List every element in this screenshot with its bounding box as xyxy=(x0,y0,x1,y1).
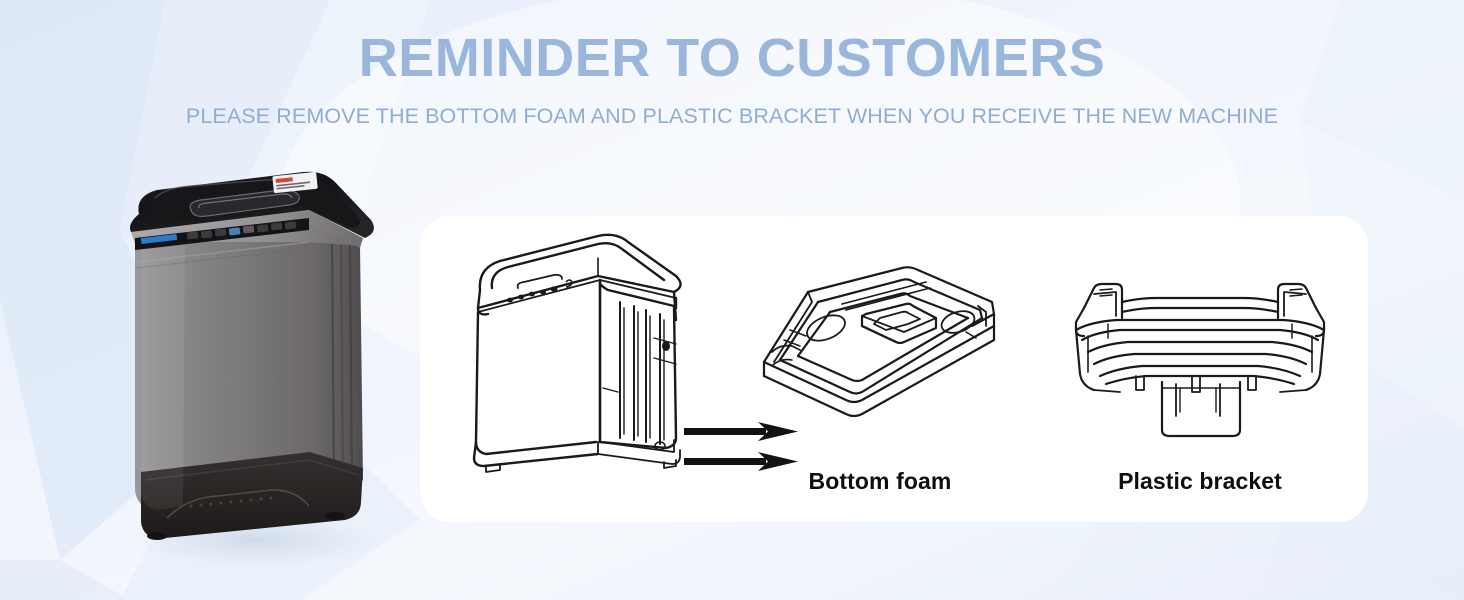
washing-machine-line-drawing xyxy=(448,228,708,478)
bottom-foam-line-drawing xyxy=(750,256,1010,456)
plastic-bracket-label: Plastic bracket xyxy=(1060,468,1340,495)
washing-machine-product-photo xyxy=(95,150,405,570)
heading-block: REMINDER TO CUSTOMERS PLEASE REMOVE THE … xyxy=(0,0,1464,129)
page-subtitle: PLEASE REMOVE THE BOTTOM FOAM AND PLASTI… xyxy=(0,87,1464,130)
plastic-bracket-line-drawing xyxy=(1060,264,1340,454)
instruction-card: Bottom foam xyxy=(420,216,1368,522)
washing-machine-photo-svg xyxy=(95,150,405,570)
reminder-banner: REMINDER TO CUSTOMERS PLEASE REMOVE THE … xyxy=(0,0,1464,600)
page-title: REMINDER TO CUSTOMERS xyxy=(0,0,1464,87)
bottom-foam-label: Bottom foam xyxy=(750,468,1010,495)
